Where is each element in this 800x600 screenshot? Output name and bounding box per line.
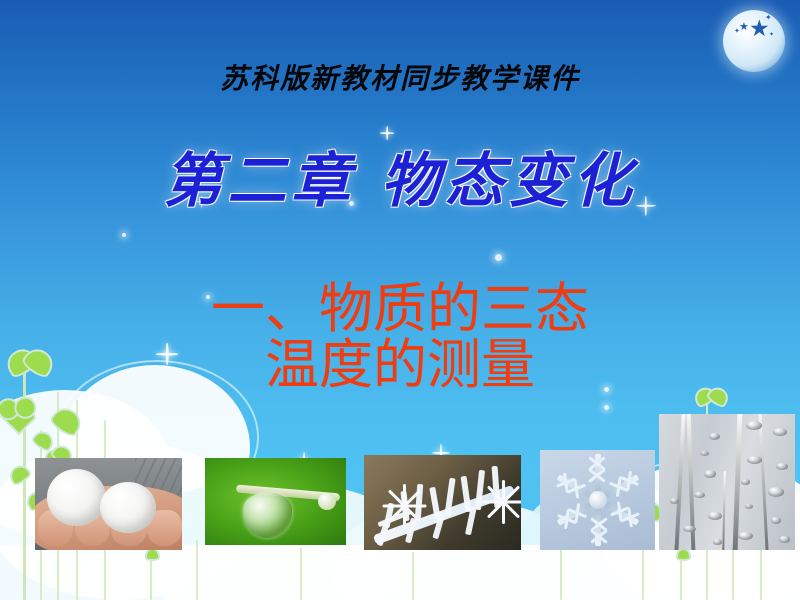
sprout-stem <box>412 552 414 600</box>
sprout-stem <box>300 548 302 600</box>
sparkle-dot <box>495 254 502 261</box>
hail-in-hand-photo <box>35 458 182 550</box>
frost-on-branch-photo <box>364 455 521 550</box>
topic-line-1: 一、物质的三态 <box>211 277 589 340</box>
water-droplet-photo <box>205 458 346 545</box>
chapter-title: 第二章 物态变化 <box>0 133 800 218</box>
snowflake-photo <box>540 450 655 550</box>
topic-line-2: 温度的测量 <box>0 337 800 393</box>
rain-on-glass-photo <box>659 414 795 550</box>
sprout-stem <box>196 540 198 600</box>
presentation-slide: ★ ★ ✦ ✦ ✦ 苏科版新教材同步教学课件 第二章 物态变化 一、物质的三态 … <box>0 0 800 600</box>
sparkle-dot <box>604 405 609 410</box>
sparkle-icon: ✦ <box>734 28 740 35</box>
topic-heading: 一、物质的三态 温度的测量 <box>0 281 800 392</box>
sparkle-dot <box>122 233 126 237</box>
sparkle-icon: ✦ <box>765 14 772 22</box>
sparkle-icon: ✦ <box>769 32 774 38</box>
star-icon: ★ <box>739 21 749 32</box>
course-kicker-text: 苏科版新教材同步教学课件 <box>0 57 800 97</box>
sprout-stem <box>560 545 562 600</box>
